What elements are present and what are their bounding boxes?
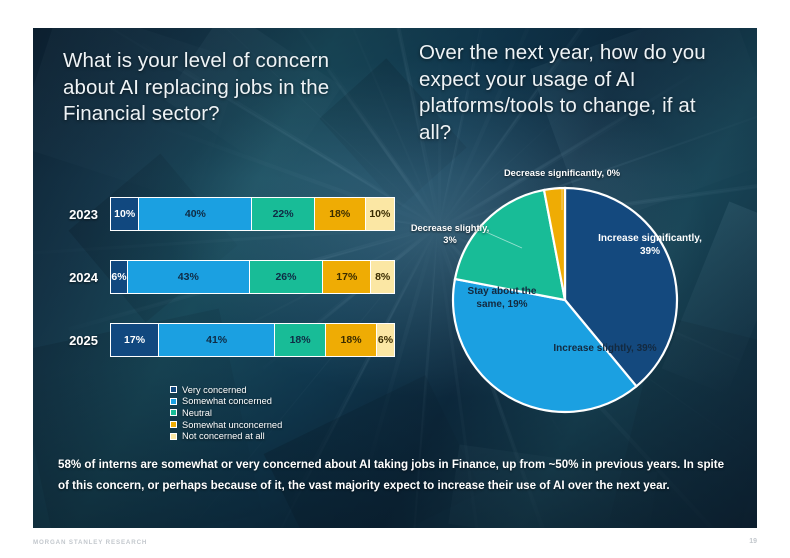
bar-chart-legend: Very concernedSomewhat concernedNeutralS… (170, 384, 282, 442)
legend-item-label: Somewhat concerned (182, 396, 272, 406)
bar-segment: 17% (323, 261, 371, 293)
footer-source: MORGAN STANLEY RESEARCH (33, 539, 147, 546)
legend-item-label: Somewhat unconcerned (182, 420, 282, 430)
bar-year-label: 2024 (55, 270, 110, 285)
bar-segment: 10% (366, 198, 394, 230)
bar-segment: 17% (111, 324, 159, 356)
legend-item[interactable]: Somewhat unconcerned (170, 419, 282, 431)
bar-segment: 40% (139, 198, 252, 230)
pie-label-increase-significantly: Increase significantly, 39% (595, 232, 705, 258)
bar-segment: 41% (159, 324, 275, 356)
legend-item[interactable]: Neutral (170, 407, 282, 419)
bar-segment: 18% (275, 324, 326, 356)
bar-row: 20246%43%26%17%8% (55, 258, 395, 296)
bar-track: 10%40%22%18%10% (110, 197, 395, 231)
bar-segment: 26% (250, 261, 324, 293)
legend-item-label: Neutral (182, 408, 212, 418)
pie-label-decrease-slightly: Decrease slightly, 3% (407, 222, 493, 247)
question-right-heading: Over the next year, how do you expect yo… (419, 40, 719, 147)
question-left-heading: What is your level of concern about AI r… (63, 48, 363, 128)
legend-swatch-icon (170, 409, 177, 416)
stacked-bar-chart: 202310%40%22%18%10%20246%43%26%17%8%2025… (55, 195, 395, 380)
legend-item-label: Very concerned (182, 385, 247, 395)
bar-segment: 8% (371, 261, 394, 293)
bar-year-label: 2025 (55, 333, 110, 348)
bar-year-label: 2023 (55, 207, 110, 222)
bar-segment: 6% (377, 324, 394, 356)
pie-label-stay-about-the-same: Stay about the same, 19% (452, 285, 552, 311)
legend-item[interactable]: Very concerned (170, 384, 282, 396)
legend-item[interactable]: Not concerned at all (170, 430, 282, 442)
legend-swatch-icon (170, 398, 177, 405)
bar-segment: 10% (111, 198, 139, 230)
pie-label-decrease-significantly: Decrease significantly, 0% (503, 167, 621, 179)
slide: What is your level of concern about AI r… (0, 0, 790, 558)
legend-item-label: Not concerned at all (182, 431, 265, 441)
bar-segment: 6% (111, 261, 128, 293)
pie-chart: Increase significantly, 39%Increase slig… (410, 170, 740, 435)
bar-row: 202310%40%22%18%10% (55, 195, 395, 233)
bar-segment: 22% (252, 198, 314, 230)
summary-text: 58% of interns are somewhat or very conc… (58, 455, 734, 496)
bar-segment: 43% (128, 261, 250, 293)
legend-item[interactable]: Somewhat concerned (170, 396, 282, 408)
pie-label-increase-slightly: Increase slightly, 39% (550, 342, 660, 355)
bar-track: 6%43%26%17%8% (110, 260, 395, 294)
bar-segment: 18% (315, 198, 366, 230)
legend-swatch-icon (170, 433, 177, 440)
bar-segment: 18% (326, 324, 377, 356)
legend-swatch-icon (170, 386, 177, 393)
bar-track: 17%41%18%18%6% (110, 323, 395, 357)
legend-swatch-icon (170, 421, 177, 428)
bar-row: 202517%41%18%18%6% (55, 321, 395, 359)
footer-page-number: 19 (749, 538, 757, 545)
